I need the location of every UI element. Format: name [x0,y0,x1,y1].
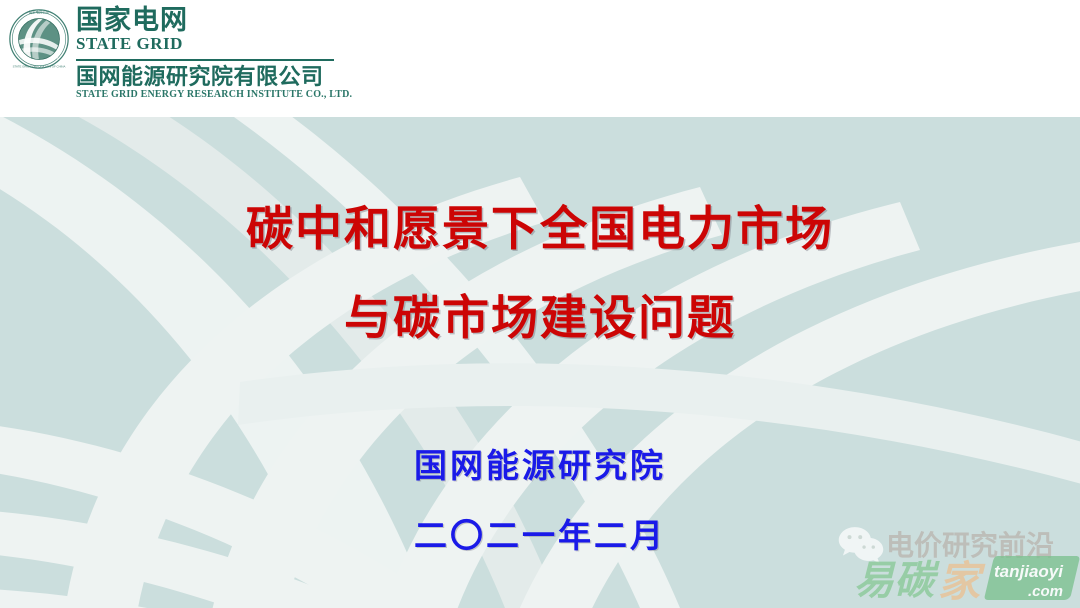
subtitle-organization: 国网能源研究院 [0,449,1080,482]
svg-text:国家电网公司: 国家电网公司 [29,10,50,15]
svg-text:STATE GRID CORPORATION OF CHIN: STATE GRID CORPORATION OF CHINA [13,65,66,69]
institute-name-cn: 国网能源研究院有限公司 [76,65,352,90]
logo-divider [76,59,334,61]
tanjiaoyi-watermark: 易碳 家 tanjiaoyi .com [852,548,1080,608]
title-line-2: 与碳市场建设问题 [0,294,1080,341]
title-line-1: 碳中和愿景下全国电力市场 [0,205,1080,252]
logo-text-group: 国家电网 STATE GRID 国网能源研究院有限公司 STATE GRID E… [76,6,352,101]
tanjiaoyi-brand-cn: 易碳 [854,559,940,603]
presentation-slide: 碳中和愿景下全国电力市场 与碳市场建设问题 国网能源研究院 二〇二一年二月 国家… [0,0,1080,608]
tanjiaoyi-domain-top: tanjiaoyi [994,562,1064,581]
slide-title: 碳中和愿景下全国电力市场 与碳市场建设问题 [0,205,1080,341]
tanjiaoyi-domain-bottom: .com [1028,583,1063,600]
tanjiaoyi-brand-accent: 家 [938,558,986,605]
brand-name-en: STATE GRID [76,35,352,54]
organization-logo-lockup: 国家电网公司 STATE GRID CORPORATION OF CHINA 国… [8,6,352,101]
brand-name-cn: 国家电网 [76,6,352,35]
state-grid-globe-emblem-icon: 国家电网公司 STATE GRID CORPORATION OF CHINA [8,8,70,70]
institute-name-en: STATE GRID ENERGY RESEARCH INSTITUTE CO.… [76,89,352,101]
header-band: 国家电网公司 STATE GRID CORPORATION OF CHINA 国… [0,0,1080,117]
